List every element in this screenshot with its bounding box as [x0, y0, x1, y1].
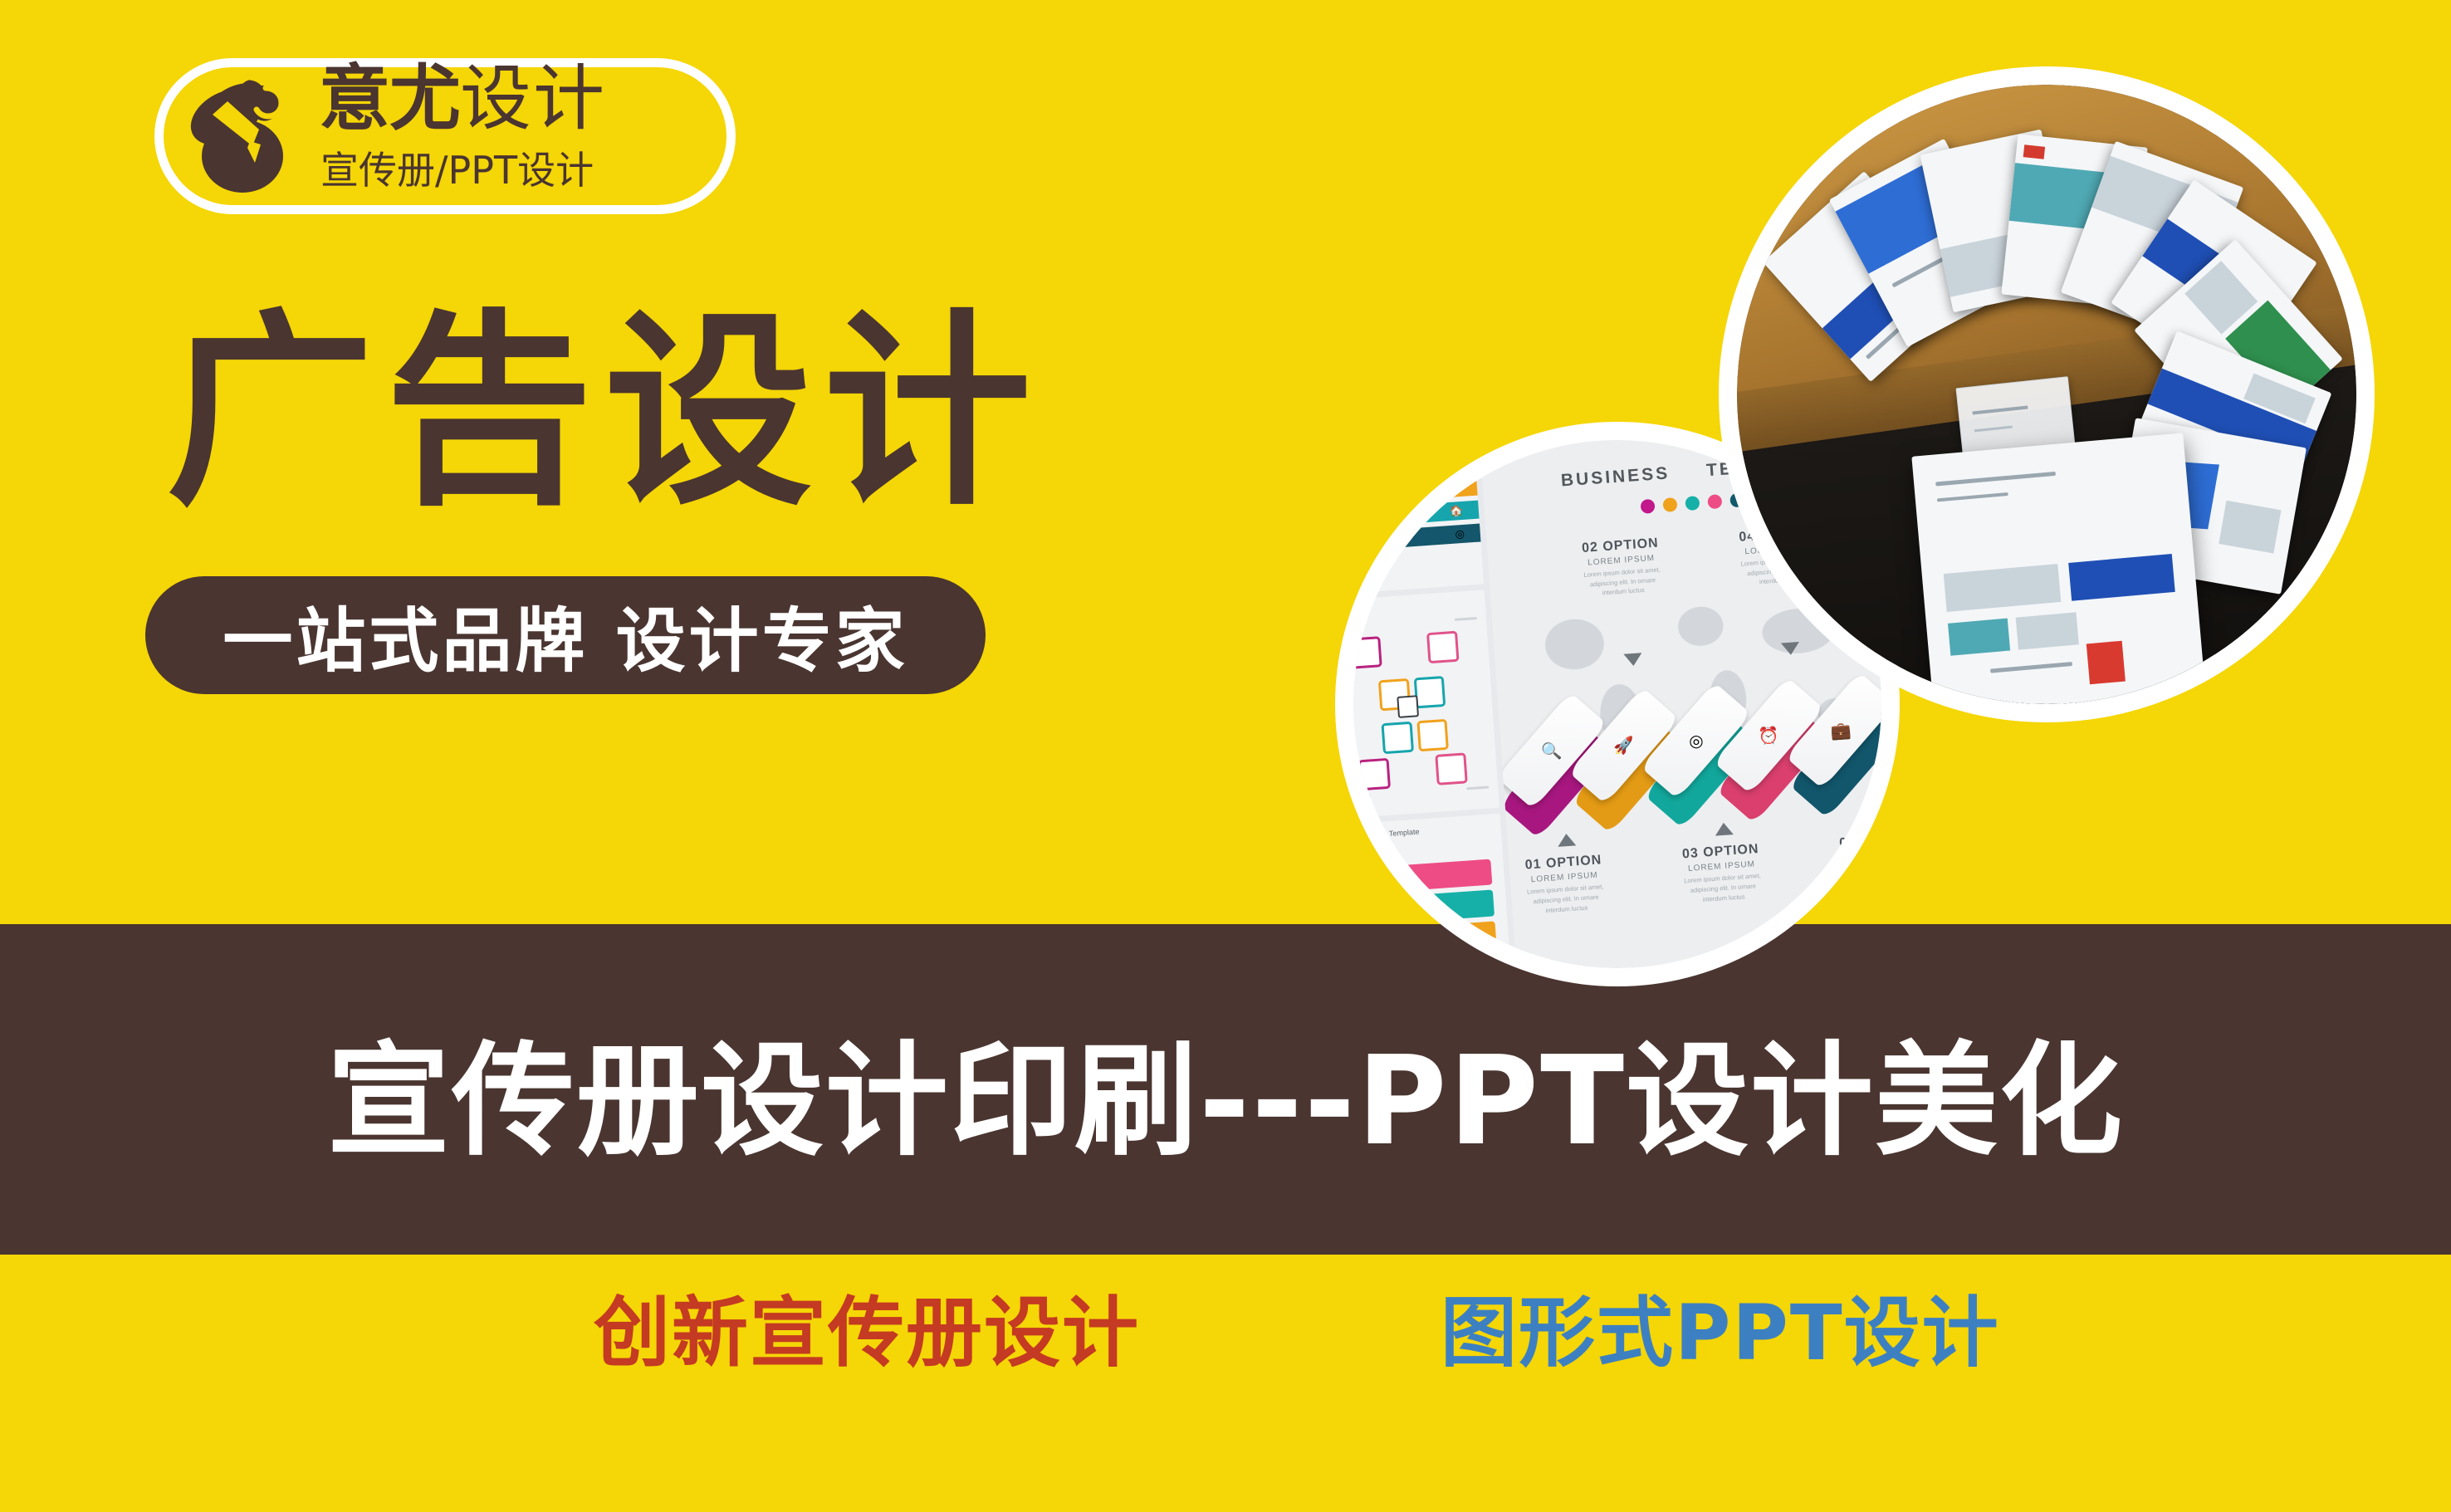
footer-tag-brochure: 创新宣传册设计 — [594, 1295, 1140, 1372]
briefcase-icon: 💼 — [1825, 700, 1856, 762]
tagline-badge: 一站式品牌 设计专家 — [145, 576, 986, 694]
arrow-up-icon-01 — [1557, 834, 1576, 847]
logo-brand-light: 设计 — [460, 57, 606, 140]
printed-brochures-photo-circle — [1719, 66, 2375, 722]
magnifier-icon: 🔍 — [1536, 720, 1567, 782]
poster-canvas: 意尤设计 宣传册/PPT设计 广告设计 一站式品牌 设计专家 🏠 — [0, 0, 2451, 1512]
arrow-up-icon-05 — [1871, 811, 1881, 825]
logo-title-row: 意尤设计 — [319, 63, 606, 135]
arrow-up-icon-03 — [1714, 822, 1733, 835]
page-title: 广告设计 — [166, 309, 1043, 516]
slide-main-title-left: BUSINESS — [1560, 464, 1671, 491]
brand-logo: 意尤设计 宣传册/PPT设计 — [154, 58, 736, 214]
footer-tags: 创新宣传册设计 图形式PPT设计 — [0, 1262, 2451, 1470]
tagline-badge-label: 一站式品牌 设计专家 — [145, 576, 986, 694]
option-label-05: 05 OPTION LOREM IPSUM Lorem ipsum dolor … — [1836, 831, 1881, 895]
logo-brand-bold: 意尤 — [319, 57, 460, 140]
logo-subtitle: 宣传册/PPT设计 — [320, 151, 594, 189]
rocket-icon: 🚀 — [1608, 715, 1639, 777]
printed-brochures-photo-inner — [1737, 85, 2356, 704]
logo-text: 意尤设计 宣传册/PPT设计 — [319, 61, 717, 211]
bird-seed-logo-icon — [173, 70, 307, 204]
arrow-down-icon-02 — [1623, 653, 1642, 666]
option-label-01: 01 OPTION LOREM IPSUM Lorem ipsum dolor … — [1521, 854, 1607, 917]
printed-brochures-photo — [1737, 85, 2356, 704]
featured-brochure — [1911, 433, 2207, 704]
slide-ribbon-icons: 🏠 ◎ — [1353, 440, 1484, 595]
footer-tag-ppt: 图形式PPT设计 — [1441, 1295, 2000, 1372]
slide-pyramid-steps: Business Template 01 02 03 04 — [1353, 813, 1512, 968]
target-icon: ◎ — [1680, 710, 1711, 772]
clock-icon: ⏰ — [1753, 705, 1783, 767]
option-label-02: 02 OPTION LOREM IPSUM Lorem ipsum dolor … — [1578, 536, 1665, 600]
main-banner-band: 宣传册设计印刷---PPT设计美化 — [0, 924, 2451, 1255]
main-banner-label: 宣传册设计印刷---PPT设计美化 — [0, 924, 2451, 1255]
option-label-03: 03 OPTION LOREM IPSUM Lorem ipsum dolor … — [1678, 842, 1764, 906]
slide-cross-matrix — [1353, 590, 1499, 819]
